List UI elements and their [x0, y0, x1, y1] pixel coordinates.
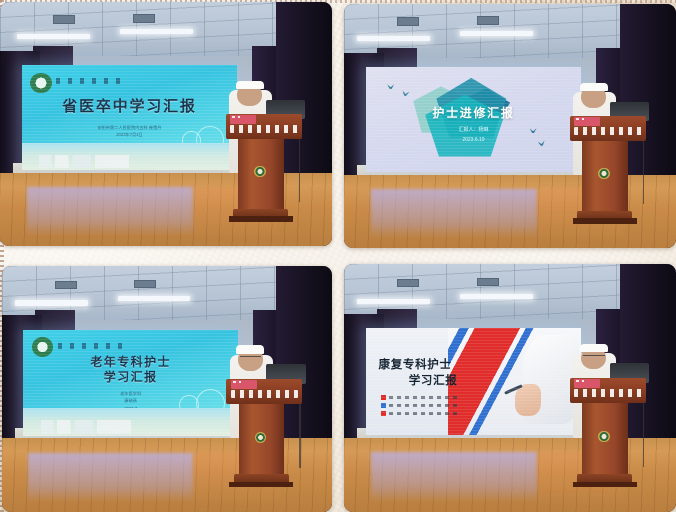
podium-body [239, 403, 285, 474]
floor-screen-reflection [28, 453, 193, 502]
slide-title: 省医卒中学习汇报 [22, 95, 238, 116]
bird-icon [402, 90, 410, 96]
lecture-hall-scene: 康复专科护士 学习汇报 [344, 264, 676, 512]
podium-base [573, 482, 637, 487]
nurse-cap-icon [580, 83, 608, 91]
bullet-marker-icon [381, 395, 386, 400]
podium-speaker-badge-text [233, 381, 241, 383]
podium-top-banner [226, 379, 302, 404]
podium [226, 379, 302, 487]
podium-hospital-nameplate [574, 127, 641, 135]
slide-bullet-list [381, 395, 480, 419]
ceiling-lamp [17, 34, 90, 39]
floor-screen-reflection [27, 187, 193, 236]
podium-speaker-badge [574, 117, 600, 125]
ceiling-vent [53, 15, 75, 23]
nurse-cap-icon [236, 81, 264, 89]
hospital-emblem-icon [598, 431, 609, 442]
hospital-emblem-icon [255, 432, 266, 443]
ceiling-vent [477, 16, 499, 24]
lecture-hall-scene: 老年专科护士 学习汇报 老年医学科 康晓燕 2023.7 [2, 266, 332, 512]
bird-icon [387, 84, 394, 89]
slide-building-illustration [39, 155, 130, 169]
slide-title-line1: 康复专科护士 [379, 356, 483, 372]
presentation-screen: 老年专科护士 学习汇报 老年医学科 康晓燕 2023.7 [23, 330, 238, 436]
podium-body [238, 138, 284, 209]
podium-top-banner [570, 116, 646, 141]
slide-subtitle-line2: 2023.6.19 [366, 136, 582, 146]
slide-content: 护士进修汇报 汇报人：杨琳 2023.6.19 [366, 67, 582, 172]
podium [570, 378, 646, 487]
slide-title-line2: 学习汇报 [379, 372, 513, 388]
slide-content: 老年专科护士 学习汇报 老年医学科 康晓燕 2023.7 [23, 330, 238, 436]
photo-top-left[interactable]: 省医卒中学习汇报 安阳市第二人民医院内五科 崔雪丹 2023年7月4日 [0, 2, 332, 246]
podium-base [229, 482, 293, 487]
presentation-screen: 省医卒中学习汇报 安阳市第二人民医院内五科 崔雪丹 2023年7月4日 [22, 65, 238, 170]
ceiling-lamp [460, 31, 533, 36]
ceiling-lamp [357, 299, 430, 304]
slide-building-illustration [41, 420, 131, 434]
ceiling-vent [397, 17, 419, 25]
hospital-logo-icon [30, 73, 51, 93]
hospital-emblem-icon [598, 168, 609, 179]
lecture-hall-scene: 护士进修汇报 汇报人：杨琳 2023.6.19 [344, 4, 676, 248]
floor-screen-reflection [371, 189, 537, 238]
podium [226, 114, 302, 221]
bullet-text [389, 412, 460, 415]
nurse-cap-icon [236, 345, 264, 353]
photo-top-right[interactable]: 护士进修汇报 汇报人：杨琳 2023.6.19 [344, 4, 676, 248]
podium-body [582, 140, 628, 211]
presentation-screen: 护士进修汇报 汇报人：杨琳 2023.6.19 [366, 67, 582, 172]
ceiling-vent [55, 281, 77, 289]
photo-bottom-right[interactable]: 康复专科护士 学习汇报 [344, 264, 676, 512]
lecture-hall-scene: 省医卒中学习汇报 安阳市第二人民医院内五科 崔雪丹 2023年7月4日 [0, 2, 332, 246]
presentation-screen: 康复专科护士 学习汇报 [366, 328, 582, 435]
hospital-emblem-icon [254, 166, 265, 177]
nurse-cap-icon [580, 344, 608, 352]
ceiling-lamp [118, 296, 191, 301]
slide-title-line2: 学习汇报 [23, 368, 238, 385]
slide-content: 省医卒中学习汇报 安阳市第二人民医院内五科 崔雪丹 2023年7月4日 [22, 65, 238, 170]
ceiling-lamp [15, 300, 88, 305]
ceiling-vent [134, 280, 156, 288]
bullet-marker-icon [381, 411, 386, 416]
podium-hospital-nameplate [231, 390, 298, 398]
podium-body [582, 402, 628, 474]
podium-speaker-badge [574, 379, 600, 388]
floor-screen-reflection [371, 452, 537, 502]
podium-speaker-badge [230, 115, 256, 123]
ceiling-lamp [120, 29, 193, 34]
slide-subtitle-line1: 汇报人：杨琳 [366, 126, 582, 136]
podium-base [573, 218, 637, 223]
podium-top-banner [570, 378, 646, 403]
list-item [381, 395, 480, 400]
slide-title: 护士进修汇报 [366, 104, 582, 121]
podium-speaker-badge-text [576, 118, 584, 120]
slide-logo-words [58, 343, 122, 349]
ceiling-lamp [357, 36, 430, 41]
glasses-icon [240, 356, 262, 361]
podium-base [229, 216, 293, 221]
ceiling-vent [133, 14, 155, 22]
podium [570, 116, 646, 223]
bullet-text [389, 404, 460, 407]
bullet-text [389, 396, 460, 399]
ceiling-vent [477, 278, 499, 286]
podium-top-banner [226, 114, 302, 139]
photo-bottom-left[interactable]: 老年专科护士 学习汇报 老年医学科 康晓燕 2023.7 [2, 266, 332, 512]
glasses-icon [583, 355, 605, 360]
bullet-marker-icon [381, 403, 386, 408]
list-item [381, 411, 480, 416]
ceiling-lamp [460, 294, 533, 299]
podium-speaker-badge-text [576, 380, 584, 382]
slide-logo-words [56, 78, 121, 84]
podium-hospital-nameplate [574, 389, 641, 397]
podium-hospital-nameplate [230, 125, 297, 133]
slide-subtitle: 汇报人：杨琳 2023.6.19 [366, 126, 582, 145]
slide-content: 康复专科护士 学习汇报 [366, 328, 582, 435]
ceiling-vent [397, 279, 419, 287]
podium-speaker-badge [231, 380, 257, 388]
podium-speaker-badge-text [232, 116, 240, 118]
list-item [381, 403, 480, 408]
